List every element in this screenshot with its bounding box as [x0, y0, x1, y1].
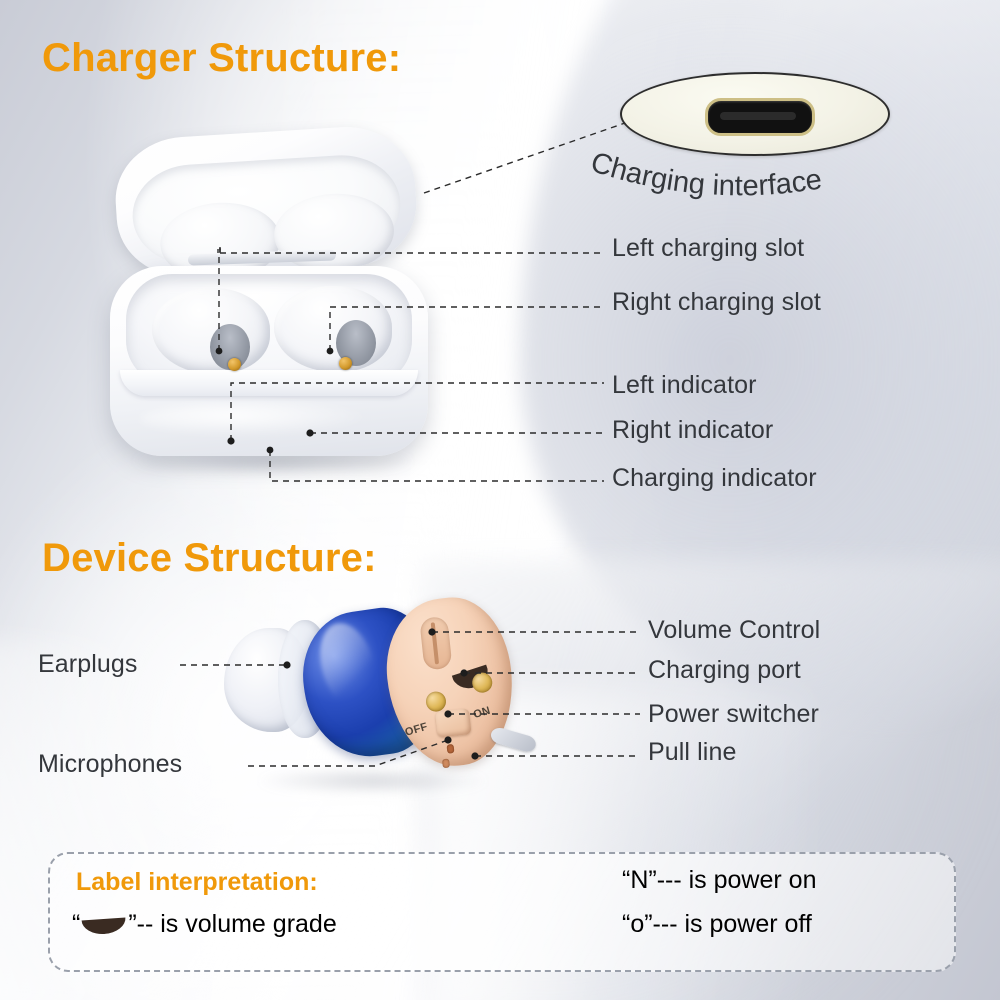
anchor-volume-control	[428, 628, 435, 635]
anchor-charging-indicator	[267, 447, 274, 454]
anchor-left-indicator	[227, 437, 234, 444]
legend-volume-grade-row: “”-- is volume grade	[72, 910, 337, 939]
leader-right-charging-slot	[330, 307, 604, 351]
leader-charging-indicator	[270, 450, 604, 481]
anchor-charging-port	[460, 669, 467, 676]
anchor-earplugs	[283, 661, 290, 668]
anchor-pull-line	[471, 752, 478, 759]
legend-open-quote: “	[72, 910, 80, 938]
leader-left-charging-slot	[219, 253, 604, 351]
label-interpretation-box: Label interpretation: “”-- is volume gra…	[48, 852, 956, 972]
volume-grade-crescent-icon	[82, 917, 127, 935]
leader-left-indicator	[231, 383, 604, 441]
leader-microphones	[248, 740, 448, 766]
infographic-canvas: Charger Structure:	[0, 0, 1000, 1000]
anchor-right-charging-slot	[327, 348, 334, 355]
legend-title: Label interpretation:	[76, 868, 318, 897]
anchor-microphones	[444, 736, 451, 743]
anchor-power-switcher	[444, 710, 451, 717]
legend-volume-grade-text: ”-- is volume grade	[128, 910, 336, 938]
legend-power-on-row: “N”--- is power on	[622, 866, 816, 895]
anchor-left-charging-slot	[216, 348, 223, 355]
legend-power-off-row: “o”--- is power off	[622, 910, 812, 939]
anchor-right-indicator	[306, 429, 313, 436]
leader-lines	[0, 0, 1000, 1000]
leader-charging-interface	[424, 123, 625, 193]
